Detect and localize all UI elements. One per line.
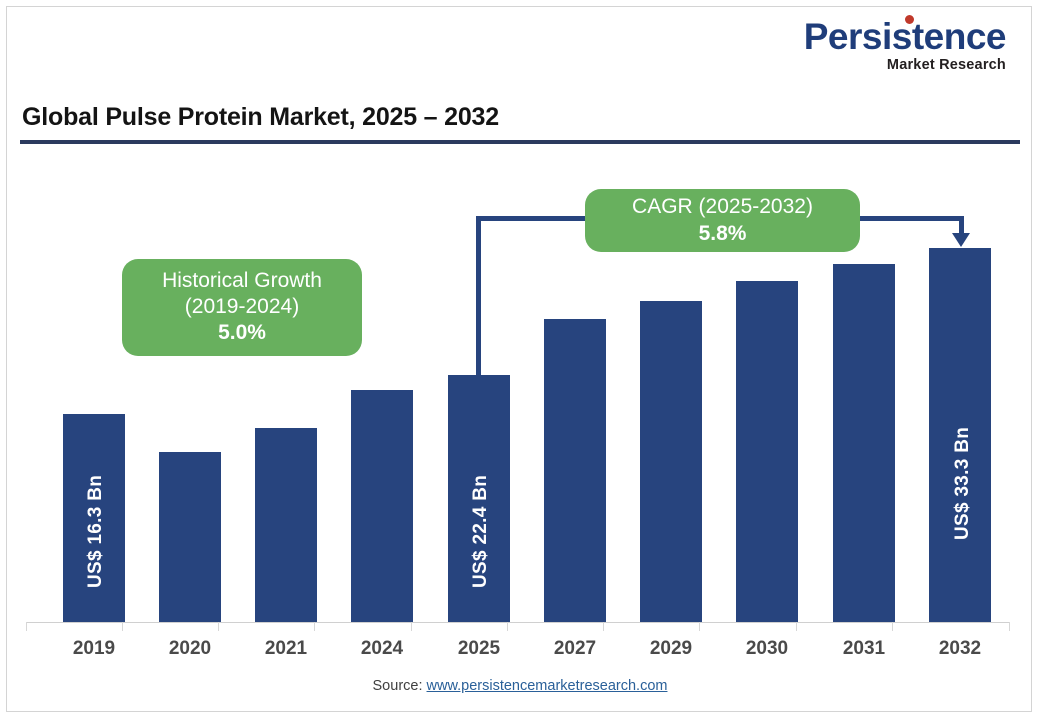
x-axis-tick	[411, 622, 412, 631]
bar-2021[interactable]	[255, 428, 317, 622]
x-axis-label-2024: 2024	[334, 638, 430, 660]
x-axis-tick	[699, 622, 700, 631]
historical-growth-callout: Historical Growth (2019-2024) 5.0%	[122, 259, 362, 356]
x-axis-label-2020: 2020	[142, 638, 238, 660]
x-axis-label-2021: 2021	[238, 638, 334, 660]
source-prefix: Source:	[373, 678, 427, 694]
x-axis-tick	[603, 622, 604, 631]
x-axis-label-2029: 2029	[623, 638, 719, 660]
x-axis-label-2032: 2032	[912, 638, 1008, 660]
x-axis-label-2025: 2025	[431, 638, 527, 660]
x-axis-tick	[26, 622, 27, 631]
bar-2027[interactable]	[544, 319, 606, 622]
x-axis-label-2019: 2019	[46, 638, 142, 660]
cagr-connector-horizontal-left	[476, 216, 596, 221]
cagr-connector-vertical-right	[959, 216, 964, 234]
historical-growth-line2: (2019-2024)	[185, 294, 299, 320]
x-axis-label-2031: 2031	[816, 638, 912, 660]
x-axis-label-2030: 2030	[719, 638, 815, 660]
bar-chart: US$ 16.3 Bn US$ 22.4 Bn US$ 33.3 Bn 2019…	[0, 0, 1040, 720]
historical-growth-value: 5.0%	[218, 319, 266, 346]
historical-growth-line1: Historical Growth	[162, 268, 322, 294]
bar-2020[interactable]	[159, 452, 221, 622]
bar-value-label-2019: US$ 16.3 Bn	[85, 475, 107, 588]
bar-value-label-2025: US$ 22.4 Bn	[470, 475, 492, 588]
x-axis-tick	[796, 622, 797, 631]
x-axis-tick	[892, 622, 893, 631]
bar-2024[interactable]	[351, 390, 413, 622]
cagr-line1: CAGR (2025-2032)	[632, 194, 813, 220]
bar-2031[interactable]	[833, 264, 895, 622]
x-axis-line	[26, 622, 1010, 623]
x-axis-tick	[314, 622, 315, 631]
x-axis-tick	[1009, 622, 1010, 631]
bar-2029[interactable]	[640, 301, 702, 622]
source-link[interactable]: www.persistencemarketresearch.com	[427, 678, 668, 694]
bar-2030[interactable]	[736, 281, 798, 622]
x-axis-tick	[122, 622, 123, 631]
chart-page: Persistence Market Research Global Pulse…	[0, 0, 1040, 720]
cagr-arrow-head-icon	[952, 233, 970, 247]
cagr-value: 5.8%	[699, 220, 747, 247]
x-axis-label-2027: 2027	[527, 638, 623, 660]
x-axis-tick	[507, 622, 508, 631]
x-axis-tick	[218, 622, 219, 631]
bar-value-label-2032: US$ 33.3 Bn	[952, 427, 974, 540]
cagr-connector-vertical-left	[476, 216, 481, 376]
source-line: Source: www.persistencemarketresearch.co…	[0, 678, 1040, 694]
cagr-callout: CAGR (2025-2032) 5.8%	[585, 189, 860, 252]
cagr-connector-horizontal-right	[855, 216, 964, 221]
